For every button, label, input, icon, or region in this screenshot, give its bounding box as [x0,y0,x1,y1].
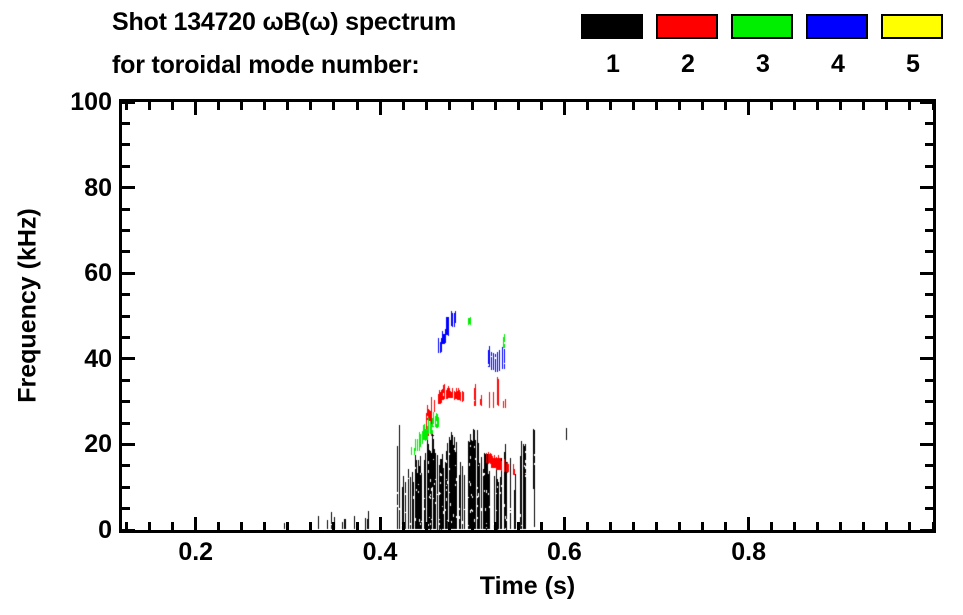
x-tick-0.275 [263,522,266,530]
y-tick-label-60: 60 [84,261,112,286]
y-tick-95 [122,122,130,125]
y-tick-label-100: 100 [70,90,112,115]
x-tick-0.875 [816,522,819,530]
y-tick-40 [122,357,135,360]
x-tick-0.95 [885,522,888,530]
y-tick-10 [122,486,130,489]
y-tick-label-0: 0 [98,518,112,543]
x-tick-0.625 [586,522,589,530]
y-tick-75 [122,208,130,211]
legend-swatch-1 [581,14,643,39]
x-tick-0.525 [494,522,497,530]
figure-title-line-1: Shot 134720 ωB(ω) spectrum [112,8,456,37]
x-tick-0.575 [540,522,543,530]
legend-swatch-4 [806,14,868,39]
x-tick-0.225 [217,102,220,110]
x-tick-label-0.4: 0.4 [335,540,425,565]
x-tick-0.275 [263,102,266,110]
legend: 12345 [581,14,951,86]
x-tick-0.5 [471,522,474,530]
x-tick-0.25 [240,102,243,110]
legend-swatch-3 [731,14,793,39]
x-tick-0.775 [724,522,727,530]
x-tick-0.15 [148,522,151,530]
legend-label-5: 5 [881,52,945,77]
x-tick-0.925 [862,522,865,530]
x-tick-0.55 [517,522,520,530]
x-tick-0.125 [125,522,128,530]
x-tick-0.175 [171,522,174,530]
x-tick-0.675 [632,102,635,110]
y-tick-40 [920,357,933,360]
legend-entry-4: 4 [806,14,870,77]
y-tick-90 [122,143,130,146]
x-tick-0.875 [816,102,819,110]
x-tick-0.6 [563,102,566,115]
x-tick-0.425 [402,522,405,530]
x-tick-0.3 [286,102,289,110]
y-tick-35 [122,379,130,382]
x-tick-0.45 [425,102,428,110]
x-tick-0.975 [908,102,911,110]
legend-swatch-5 [881,14,943,39]
x-tick-0.975 [908,522,911,530]
x-tick-0.575 [540,102,543,110]
x-tick-0.85 [793,522,796,530]
y-tick-65 [925,250,933,253]
x-tick-0.75 [701,522,704,530]
legend-label-2: 2 [656,52,720,77]
x-tick-0.125 [125,102,128,110]
y-tick-30 [122,400,130,403]
x-tick-0.35 [332,522,335,530]
x-tick-0.725 [678,102,681,110]
x-tick-0.625 [586,102,589,110]
x-tick-0.95 [885,102,888,110]
x-tick-0.725 [678,522,681,530]
x-tick-0.375 [356,102,359,110]
y-tick-60 [920,272,933,275]
y-tick-70 [925,229,933,232]
y-tick-55 [925,293,933,296]
y-tick-55 [122,293,130,296]
y-tick-80 [122,186,135,189]
y-tick-0 [122,529,135,532]
y-tick-45 [122,336,130,339]
x-tick-0.775 [724,102,727,110]
y-tick-30 [925,400,933,403]
y-tick-5 [925,507,933,510]
x-tick-0.9 [839,102,842,110]
y-tick-100 [122,101,135,104]
x-tick-0.8 [747,102,750,115]
y-tick-20 [122,443,135,446]
x-tick-0.475 [448,522,451,530]
legend-entry-3: 3 [731,14,795,77]
x-tick-0.425 [402,102,405,110]
y-tick-75 [925,208,933,211]
x-tick-0.175 [171,102,174,110]
legend-entry-5: 5 [881,14,945,77]
x-tick-0.15 [148,102,151,110]
y-tick-label-20: 20 [84,432,112,457]
x-tick-0.925 [862,102,865,110]
y-tick-15 [122,464,130,467]
x-axis-title: Time (s) [119,573,936,600]
x-tick-0.375 [356,522,359,530]
x-tick-0.4 [379,102,382,115]
x-tick-0.2 [194,517,197,530]
x-tick-0.7 [655,522,658,530]
y-tick-70 [122,229,130,232]
x-tick-0.475 [448,102,451,110]
x-tick-0.65 [609,522,612,530]
x-tick-0.65 [609,102,612,110]
legend-label-3: 3 [731,52,795,77]
x-tick-1 [932,522,935,530]
y-tick-label-40: 40 [84,347,112,372]
x-tick-0.675 [632,522,635,530]
x-tick-0.825 [770,522,773,530]
y-tick-60 [122,272,135,275]
y-tick-20 [920,443,933,446]
x-tick-0.2 [194,102,197,115]
x-tick-0.9 [839,522,842,530]
legend-swatch-2 [656,14,718,39]
spectrogram-canvas [122,102,933,530]
y-tick-5 [122,507,130,510]
legend-entry-2: 2 [656,14,720,77]
x-tick-0.7 [655,102,658,110]
x-tick-0.85 [793,102,796,110]
x-tick-0.325 [309,102,312,110]
plot-area [119,99,936,533]
x-tick-0.6 [563,517,566,530]
x-tick-0.225 [217,522,220,530]
x-tick-label-0.2: 0.2 [151,540,241,565]
spectrum-figure: Shot 134720 ωB(ω) spectrum for toroidal … [0,0,963,615]
x-tick-0.5 [471,102,474,110]
y-tick-85 [122,165,130,168]
x-tick-0.8 [747,517,750,530]
legend-label-4: 4 [806,52,870,77]
y-tick-65 [122,250,130,253]
y-tick-85 [925,165,933,168]
y-axis-title: Frequency (kHz) [15,186,42,426]
x-tick-0.4 [379,517,382,530]
y-tick-50 [925,315,933,318]
y-tick-25 [122,422,130,425]
y-tick-35 [925,379,933,382]
y-tick-25 [925,422,933,425]
y-tick-label-80: 80 [84,176,112,201]
legend-entry-1: 1 [581,14,645,77]
x-tick-label-0.8: 0.8 [704,540,794,565]
y-tick-10 [925,486,933,489]
y-tick-50 [122,315,130,318]
figure-title-line-2: for toroidal mode number: [112,51,420,80]
x-tick-0.25 [240,522,243,530]
x-tick-label-0.6: 0.6 [519,540,609,565]
x-tick-0.75 [701,102,704,110]
y-tick-95 [925,122,933,125]
y-tick-90 [925,143,933,146]
x-tick-0.525 [494,102,497,110]
x-tick-0.825 [770,102,773,110]
legend-label-1: 1 [581,52,645,77]
x-tick-0.35 [332,102,335,110]
x-tick-0.45 [425,522,428,530]
x-axis-tick-labels: 0.20.40.60.8 [119,540,936,570]
y-tick-80 [920,186,933,189]
x-tick-0.55 [517,102,520,110]
x-tick-1 [932,102,935,110]
x-tick-0.325 [309,522,312,530]
x-tick-0.3 [286,522,289,530]
y-tick-45 [925,336,933,339]
y-tick-15 [925,464,933,467]
